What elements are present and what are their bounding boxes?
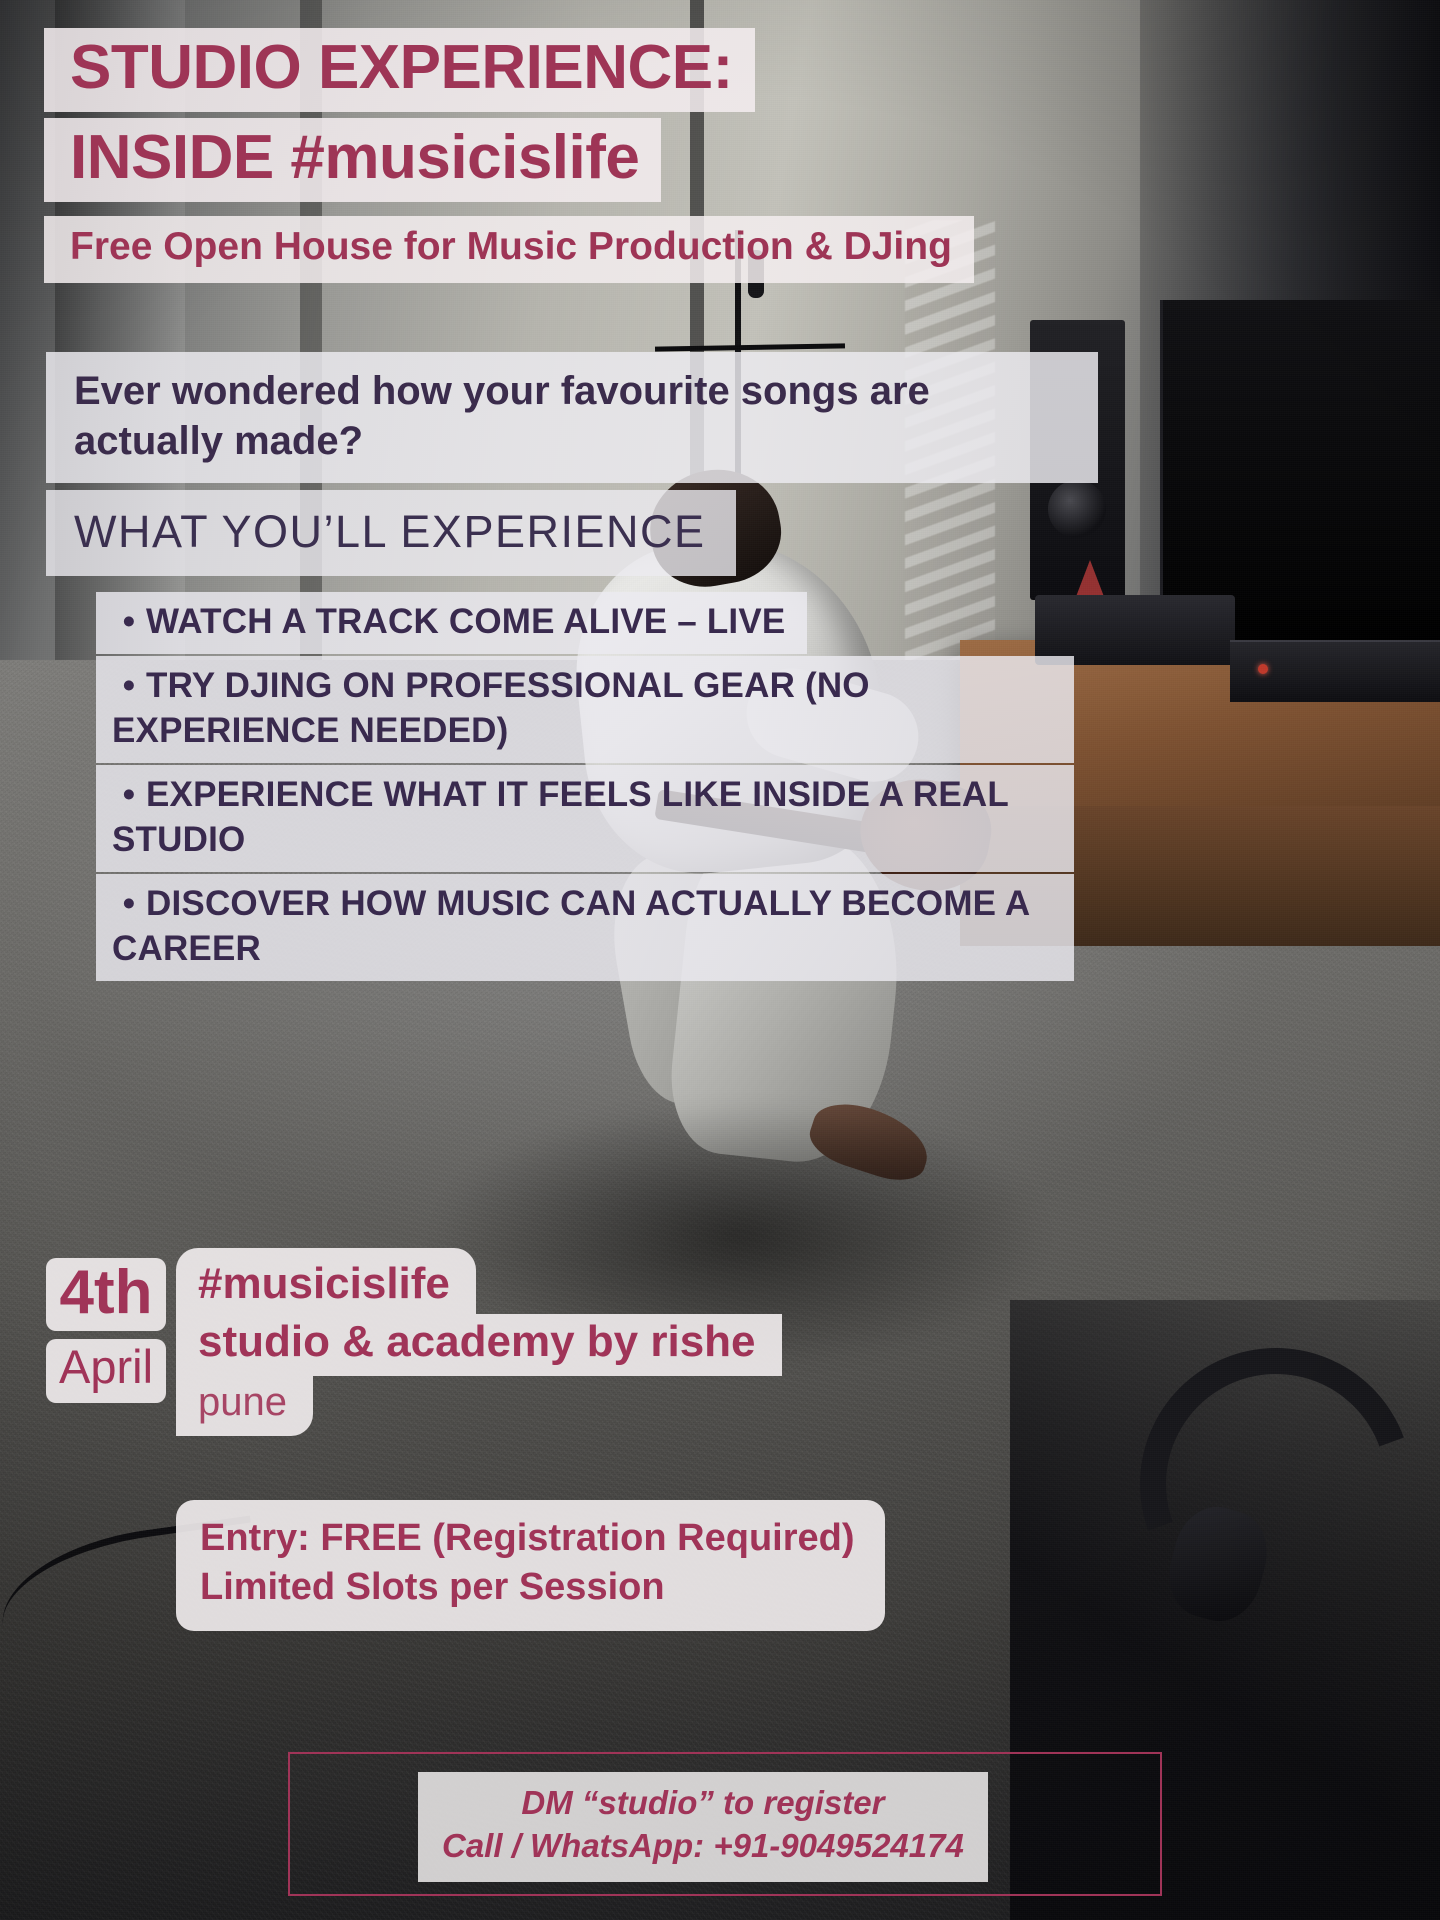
event-day: 4th: [46, 1258, 166, 1331]
bullet-dot-icon: •: [112, 773, 146, 817]
cta-phone-line[interactable]: Call / WhatsApp: +91-9049524174: [442, 1825, 964, 1868]
poster-canvas: STUDIO EXPERIENCE: INSIDE #musicislife F…: [0, 0, 1440, 1920]
hook-question: Ever wondered how your favourite songs a…: [46, 352, 1098, 483]
headline-block: STUDIO EXPERIENCE: INSIDE #musicislife F…: [44, 28, 1114, 283]
bullet-dot-icon: •: [112, 882, 146, 926]
venue-block: #musicislife studio & academy by rishe p…: [176, 1248, 896, 1436]
list-item-label: TRY DJING ON PROFESSIONAL GEAR (NO EXPER…: [112, 666, 870, 749]
cta-frame: DM “studio” to register Call / WhatsApp:…: [288, 1752, 1162, 1896]
cta-contact-block[interactable]: DM “studio” to register Call / WhatsApp:…: [418, 1772, 988, 1882]
entry-info-block: Entry: FREE (Registration Required) Limi…: [176, 1500, 885, 1631]
list-item: •EXPERIENCE WHAT IT FEELS LIKE INSIDE A …: [96, 765, 1074, 872]
cta-dm-line: DM “studio” to register: [442, 1782, 964, 1825]
headline-line-2: INSIDE #musicislife: [44, 118, 661, 202]
list-item-label: DISCOVER HOW MUSIC CAN ACTUALLY BECOME A…: [112, 884, 1029, 967]
experience-list: •WATCH A TRACK COME ALIVE – LIVE •TRY DJ…: [96, 592, 1106, 983]
bullet-dot-icon: •: [112, 600, 146, 644]
list-item: •WATCH A TRACK COME ALIVE – LIVE: [96, 592, 807, 654]
section-heading-experience: WHAT YOU’LL EXPERIENCE: [46, 490, 736, 576]
bullet-dot-icon: •: [112, 664, 146, 708]
venue-name-line-1: #musicislife: [176, 1248, 476, 1314]
list-item: •TRY DJING ON PROFESSIONAL GEAR (NO EXPE…: [96, 656, 1074, 763]
event-date-badge: 4th April: [46, 1258, 166, 1403]
entry-line-1: Entry: FREE (Registration Required): [200, 1514, 855, 1563]
venue-name-line-2: studio & academy by rishe: [176, 1314, 782, 1376]
list-item-label: EXPERIENCE WHAT IT FEELS LIKE INSIDE A R…: [112, 775, 1008, 858]
entry-line-2: Limited Slots per Session: [200, 1563, 855, 1612]
poster-content: STUDIO EXPERIENCE: INSIDE #musicislife F…: [0, 0, 1440, 1920]
headline-line-1: STUDIO EXPERIENCE:: [44, 28, 755, 112]
list-item: •DISCOVER HOW MUSIC CAN ACTUALLY BECOME …: [96, 874, 1074, 981]
poster-subtitle: Free Open House for Music Production & D…: [44, 216, 974, 283]
venue-city: pune: [176, 1376, 313, 1436]
event-month: April: [46, 1339, 166, 1403]
list-item-label: WATCH A TRACK COME ALIVE – LIVE: [146, 602, 785, 641]
